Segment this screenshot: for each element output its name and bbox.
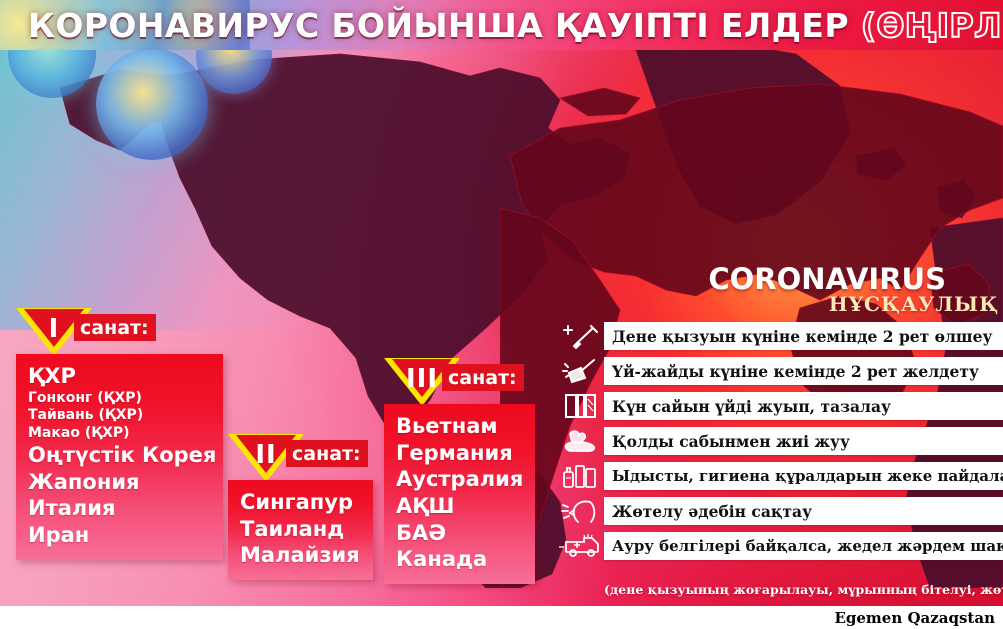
handwash-icon xyxy=(556,426,604,456)
instruction-row: Ыдысты, гигиена құралдарын жеке пайдалан… xyxy=(556,461,1003,491)
list-item: Италия xyxy=(28,495,211,522)
category-label-box-1: санат: xyxy=(74,314,156,341)
infographic-poster: КОРОНАВИРУС БОЙЫНША ҚАУІПТІ ЕЛДЕР (ӨҢІРЛ… xyxy=(0,0,1003,629)
instruction-text: Жөтелу әдебін сақтау xyxy=(612,502,812,521)
instruction-text: Қолды сабынмен жиі жуу xyxy=(612,432,850,451)
list-item: Жапония xyxy=(28,469,211,496)
instruction-text: Ауру белгілері байқалса, жедел жәрдем ша… xyxy=(612,537,1003,555)
category-label-2: санат: xyxy=(292,443,361,465)
list-item: Вьетнам xyxy=(396,413,523,440)
coronavirus-heading: CORONAVIRUS xyxy=(556,262,946,296)
list-item: Оңтүстік Корея xyxy=(28,442,211,469)
instructions-footnote: (дене қызуының жоғарылауы, мұрынның біте… xyxy=(604,582,1003,597)
list-item: Тайвань (ҚХР) xyxy=(28,407,211,425)
category-label-1: санат: xyxy=(80,317,149,339)
list-item: Аустралия xyxy=(396,466,523,493)
list-item: Таиланд xyxy=(240,516,361,543)
list-item: Сингапур xyxy=(240,489,361,516)
list-item: Германия xyxy=(396,440,523,467)
page-title-suffix: (ӨҢІРЛЕР): xyxy=(861,6,1003,45)
instructions-subheading: НҰСҚАУЛЫҚ xyxy=(556,292,999,316)
category-label-box-2: санат: xyxy=(286,440,368,467)
list-item: Малайзия xyxy=(240,542,361,569)
window-icon xyxy=(556,391,604,421)
instruction-text: Ыдысты, гигиена құралдарын жеке пайдалан… xyxy=(612,467,1003,485)
list-item: ҚХР xyxy=(28,363,211,390)
bottles-icon xyxy=(556,461,604,491)
instruction-bar: Дене қызуын күніне кемінде 2 рет өлшеу xyxy=(604,322,1003,350)
page-title-main: КОРОНАВИРУС БОЙЫНША ҚАУІПТІ ЕЛДЕР xyxy=(28,6,849,45)
instruction-text: Дене қызуын күніне кемінде 2 рет өлшеу xyxy=(612,327,992,346)
instruction-bar: Күн сайын үйді жуып, тазалау xyxy=(604,392,1003,420)
virus-particle-large xyxy=(96,48,208,160)
instruction-text: Үй-жайды күніне кемінде 2 рет желдету xyxy=(612,362,979,381)
category-label-box-3: санат: xyxy=(442,364,524,391)
instructions-list: Дене қызуын күніне кемінде 2 рет өлшеу xyxy=(556,321,1003,566)
list-item: АҚШ xyxy=(396,493,523,520)
publisher-credit: Egemen Qazaqstan xyxy=(834,606,995,629)
list-item: Канада xyxy=(396,546,523,573)
title-bar: КОРОНАВИРУС БОЙЫНША ҚАУІПТІ ЕЛДЕР (ӨҢІРЛ… xyxy=(0,0,1003,50)
list-item: Гонконг (ҚХР) xyxy=(28,390,211,408)
list-item: Иран xyxy=(28,522,211,549)
instruction-row: Үй-жайды күніне кемінде 2 рет желдету xyxy=(556,356,1003,386)
instruction-row: Ауру белгілері байқалса, жедел жәрдем ша… xyxy=(556,531,1003,561)
instruction-bar: Үй-жайды күніне кемінде 2 рет желдету xyxy=(604,357,1003,385)
instruction-text: Күн сайын үйді жуып, тазалау xyxy=(612,397,891,416)
infographic-panel: КОРОНАВИРУС БОЙЫНША ҚАУІПТІ ЕЛДЕР (ӨҢІРЛ… xyxy=(0,0,1003,606)
instruction-bar: Ыдысты, гигиена құралдарын жеке пайдалан… xyxy=(604,462,1003,490)
page-title: КОРОНАВИРУС БОЙЫНША ҚАУІПТІ ЕЛДЕР (ӨҢІРЛ… xyxy=(28,6,1003,45)
instruction-bar: Ауру белгілері байқалса, жедел жәрдем ша… xyxy=(604,532,1003,560)
category-list-3: Вьетнам Германия Аустралия АҚШ БАӘ Канад… xyxy=(384,404,535,584)
category-label-3: санат: xyxy=(448,367,517,389)
instruction-row: Жөтелу әдебін сақтау xyxy=(556,496,1003,526)
cough-icon xyxy=(556,496,604,526)
list-item: Макао (ҚХР) xyxy=(28,425,211,443)
instruction-row: Күн сайын үйді жуып, тазалау xyxy=(556,391,1003,421)
instruction-bar: Жөтелу әдебін сақтау xyxy=(604,497,1003,525)
list-item: БАӘ xyxy=(396,520,523,547)
instruction-row: Қолды сабынмен жиі жуу xyxy=(556,426,1003,456)
instruction-row: Дене қызуын күніне кемінде 2 рет өлшеу xyxy=(556,321,1003,351)
thermometer-icon xyxy=(556,321,604,351)
category-list-2: Сингапур Таиланд Малайзия xyxy=(228,480,373,580)
category-list-1: ҚХР Гонконг (ҚХР) Тайвань (ҚХР) Макао (Қ… xyxy=(16,354,223,560)
broom-icon xyxy=(556,356,604,386)
ambulance-icon xyxy=(556,531,604,561)
instruction-bar: Қолды сабынмен жиі жуу xyxy=(604,427,1003,455)
